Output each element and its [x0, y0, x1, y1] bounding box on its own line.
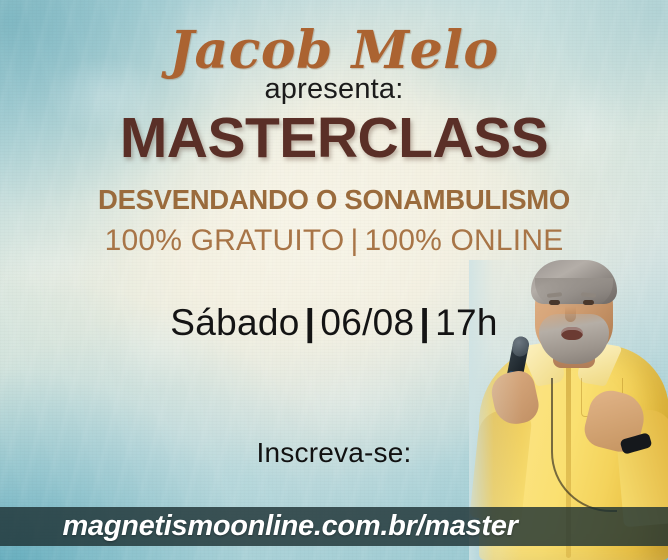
url-banner[interactable]: magnetismoonline.com.br/master — [0, 507, 668, 546]
event-day: Sábado — [170, 302, 299, 343]
datetime-separator-2: | — [414, 302, 435, 343]
datetime-separator-1: | — [300, 302, 321, 343]
presenter-name: Jacob Melo — [0, 20, 668, 81]
price-free-label: 100% GRATUITO — [105, 224, 345, 257]
event-date: 06/08 — [320, 302, 414, 343]
event-datetime-line: Sábado|06/08|17h — [0, 302, 668, 344]
event-type-title: MASTERCLASS — [0, 105, 668, 171]
signup-label: Inscreva-se: — [0, 437, 668, 469]
price-online-label: 100% ONLINE — [364, 224, 563, 257]
presents-label: apresenta: — [0, 73, 668, 106]
price-line: 100% GRATUITO|100% ONLINE — [0, 224, 668, 258]
event-headline: DESVENDANDO O SONAMBULISMO — [0, 184, 668, 216]
event-time: 17h — [435, 302, 498, 343]
signup-url[interactable]: magnetismoonline.com.br/master — [62, 510, 605, 543]
price-separator: | — [344, 224, 364, 257]
masterclass-flyer: Jacob Melo apresenta: MASTERCLASS DESVEN… — [0, 0, 668, 560]
